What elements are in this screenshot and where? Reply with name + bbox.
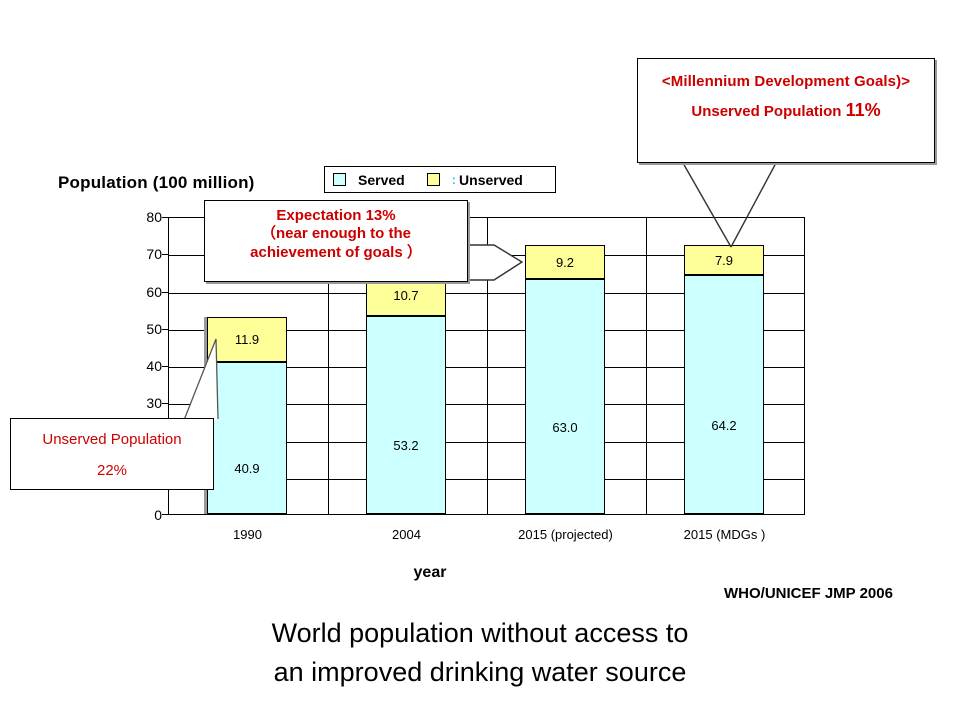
- category-divider-2: [487, 218, 488, 514]
- chart-title-line2: an improved drinking water source: [0, 653, 960, 692]
- bar-label-unserved-2004: 10.7: [393, 288, 418, 303]
- x-axis-label-2015-projected: 2015 (projected): [486, 527, 645, 542]
- y-tick-80: 80: [122, 209, 162, 225]
- bar-group-2004[interactable]: 53.2 10.7: [366, 276, 446, 514]
- callout-expectation-line2: （near enough to the: [205, 225, 467, 243]
- callout-expectation[interactable]: Expectation 13% （near enough to the achi…: [204, 200, 468, 282]
- x-axis-label-1990: 1990: [168, 527, 327, 542]
- chart-title-line1: World population without access to: [0, 614, 960, 653]
- bar-label-served-2004: 53.2: [393, 438, 418, 453]
- y-tick-60: 60: [122, 284, 162, 300]
- bar-segment-served-2004[interactable]: 53.2: [366, 316, 446, 514]
- y-tick-70: 70: [122, 246, 162, 262]
- x-axis-label-2004: 2004: [327, 527, 486, 542]
- bar-segment-served-2015-projected[interactable]: 63.0: [525, 279, 605, 514]
- callout-expectation-line3: achievement of goals ）: [205, 244, 467, 262]
- callout-mdg-line2-text: Unserved Population: [691, 103, 841, 120]
- bar-label-unserved-2015-mdgs: 7.9: [715, 253, 733, 268]
- bar-group-1990[interactable]: 40.9 11.9: [207, 317, 287, 514]
- callout-millennium-development-goals[interactable]: <Millennium Development Goals)> Unserved…: [637, 58, 935, 163]
- x-axis-title-wrap: year: [330, 564, 530, 582]
- y-tick-40: 40: [122, 358, 162, 374]
- legend-entry-unserved: : Unserved: [427, 172, 523, 188]
- bar-label-unserved-2015-projected: 9.2: [556, 255, 574, 270]
- y-tick-0: 0: [122, 507, 162, 523]
- legend-label-served: Served: [358, 172, 405, 188]
- callout-unserved-population-22[interactable]: Unserved Population 22%: [10, 418, 214, 490]
- legend-label-unserved: Unserved: [459, 172, 523, 188]
- source-note: WHO/UNICEF JMP 2006: [724, 585, 893, 602]
- y-axis-title: Population (100 million): [58, 173, 255, 193]
- x-axis-title: year: [414, 564, 447, 581]
- bar-segment-unserved-2015-projected[interactable]: 9.2: [525, 245, 605, 279]
- bar-segment-unserved-2015-mdgs[interactable]: 7.9: [684, 245, 764, 274]
- callout-mdg-line1: <Millennium Development Goals)>: [638, 73, 934, 90]
- bar-segment-unserved-1990[interactable]: 11.9: [207, 317, 287, 361]
- bar-group-2015-projected[interactable]: 63.0 9.2: [525, 245, 605, 514]
- callout-mdg-line2: Unserved Population 11%: [638, 100, 934, 121]
- legend-swatch-unserved-icon: [427, 173, 440, 186]
- legend-separator: :: [452, 172, 456, 187]
- chart-title: World population without access to an im…: [0, 614, 960, 692]
- chart-legend: Served : Unserved: [324, 166, 556, 193]
- bar-label-unserved-1990: 11.9: [235, 332, 259, 347]
- callout-unserved22-line2: 22%: [11, 462, 213, 479]
- bar-segment-served-2015-mdgs[interactable]: 64.2: [684, 275, 764, 514]
- category-divider-3: [646, 218, 647, 514]
- callout-mdg-percent: 11%: [846, 100, 881, 120]
- y-tick-30: 30: [122, 395, 162, 411]
- callout-unserved22-line1: Unserved Population: [11, 431, 213, 448]
- y-tick-50: 50: [122, 321, 162, 337]
- bar-label-served-1990: 40.9: [234, 461, 259, 476]
- bar-segment-served-1990[interactable]: 40.9: [207, 362, 287, 514]
- bar-label-served-2015-projected: 63.0: [552, 420, 577, 435]
- x-axis-label-2015-mdgs: 2015 (MDGs ): [645, 527, 804, 542]
- bar-group-2015-mdgs[interactable]: 64.2 7.9: [684, 245, 764, 514]
- legend-swatch-served-icon: [333, 173, 346, 186]
- bar-label-served-2015-mdgs: 64.2: [711, 418, 736, 433]
- legend-entry-served: Served: [333, 172, 405, 188]
- callout-expectation-line1: Expectation 13%: [205, 207, 467, 225]
